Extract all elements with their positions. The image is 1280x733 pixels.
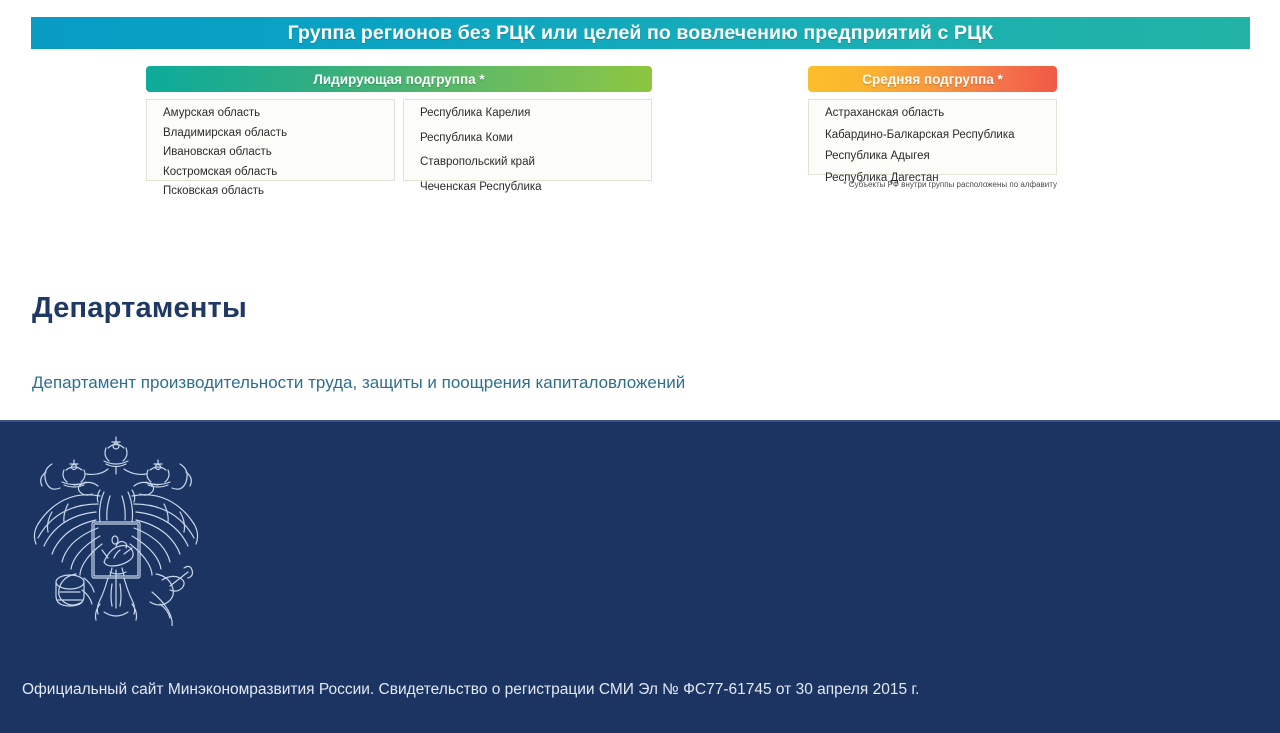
region-item: Псковская область xyxy=(147,186,394,198)
site-footer: Официальный сайт Минэкономразвития Росси… xyxy=(0,420,1280,733)
department-link-productivity[interactable]: Департамент производительности труда, за… xyxy=(32,373,685,393)
leading-subgroup-column-1: Амурская область Владимирская область Ив… xyxy=(146,99,395,181)
leading-subgroup-header: Лидирующая подгруппа * xyxy=(146,66,652,92)
region-item: Астраханская область xyxy=(809,108,1056,120)
region-item: Республика Карелия xyxy=(404,108,651,120)
middle-subgroup-column-1: Астраханская область Кабардино-Балкарска… xyxy=(808,99,1057,175)
russian-coat-of-arms-icon xyxy=(12,434,220,626)
region-item: Республика Коми xyxy=(404,133,651,145)
regions-infographic: Группа регионов без РЦК или целей по вов… xyxy=(0,0,1280,420)
infographic-footnote: * Субъекты РФ внутри группы расположены … xyxy=(808,180,1057,189)
leading-subgroup-column-2: Республика Карелия Республика Коми Ставр… xyxy=(403,99,652,181)
region-item: Кабардино-Балкарская Республика xyxy=(809,130,1056,142)
banner-title: Группа регионов без РЦК или целей по вов… xyxy=(288,22,994,45)
region-item: Владимирская область xyxy=(147,128,394,140)
region-item: Республика Адыгея xyxy=(809,151,1056,163)
departments-heading: Департаменты xyxy=(32,292,247,325)
page-root: Группа регионов без РЦК или целей по вов… xyxy=(0,0,1280,733)
region-item: Костромская область xyxy=(147,167,394,179)
region-item: Ивановская область xyxy=(147,147,394,159)
region-item: Амурская область xyxy=(147,108,394,120)
region-item: Ставропольский край xyxy=(404,157,651,169)
infographic-banner: Группа регионов без РЦК или целей по вов… xyxy=(31,17,1250,49)
middle-subgroup-label: Средняя подгруппа * xyxy=(862,72,1003,87)
leading-subgroup-label: Лидирующая подгруппа * xyxy=(313,72,484,87)
middle-subgroup-header: Средняя подгруппа * xyxy=(808,66,1057,92)
footer-copyright: Официальный сайт Минэкономразвития Росси… xyxy=(22,681,919,699)
region-item: Чеченская Республика xyxy=(404,182,651,194)
